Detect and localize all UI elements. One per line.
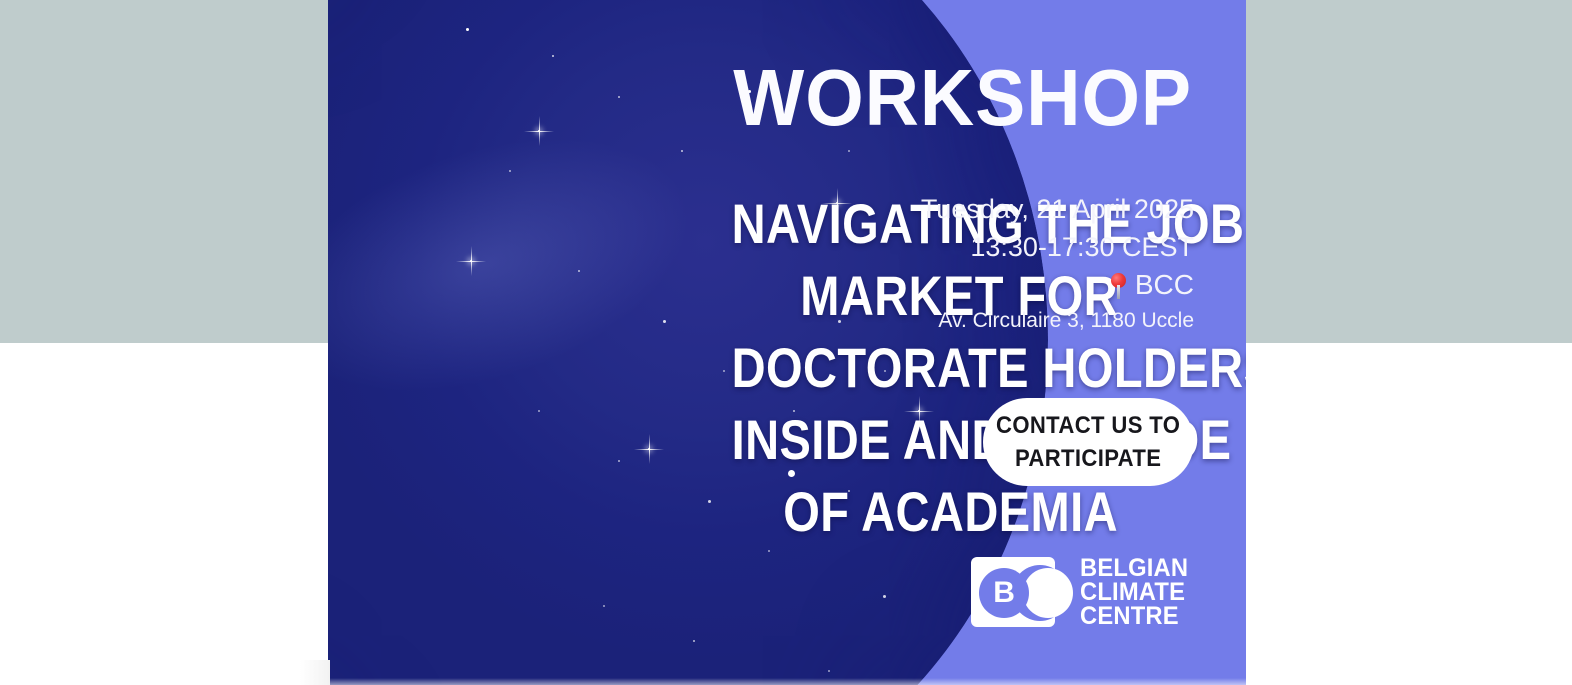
logo-wordmark: BELGIAN CLIMATE CENTRE [1080,556,1188,628]
poster-bottom-edge [328,678,1246,685]
cta-line-2: PARTICIPATE [996,442,1180,475]
logo-line-3: CENTRE [1080,604,1188,628]
event-venue-row: BCC [894,266,1194,304]
poster-right-column: WORKSHOP Tuesday, 21 April 2025 13:30-17… [874,0,1246,685]
logo-line-1: BELGIAN [1080,556,1188,580]
event-date: Tuesday, 21 April 2025 [894,190,1194,228]
workshop-poster: NAVIGATING THE JOB MARKET FOR DOCTORATE … [328,0,1246,685]
event-venue: BCC [1135,269,1194,300]
event-details: Tuesday, 21 April 2025 13:30-17:30 CEST … [894,190,1194,338]
bcc-logo-mark-icon: B [971,557,1069,627]
location-pin-icon [1111,273,1126,299]
contact-us-to-participate-button[interactable]: CONTACT US TO PARTICIPATE [983,398,1194,486]
logo-line-2: CLIMATE [1080,580,1188,604]
logo-mark-letter: B [993,578,1015,608]
event-time: 13:30-17:30 CEST [894,228,1194,266]
event-address: Av. Circulaire 3, 1180 Uccle [894,304,1194,338]
cta-button-label: CONTACT US TO PARTICIPATE [996,409,1180,475]
poster-title: WORKSHOP [733,57,1192,139]
page-bottom-left-fade [300,660,330,685]
belgian-climate-centre-logo: B BELGIAN CLIMATE CENTRE [971,556,1194,628]
cta-line-1: CONTACT US TO [996,409,1180,442]
